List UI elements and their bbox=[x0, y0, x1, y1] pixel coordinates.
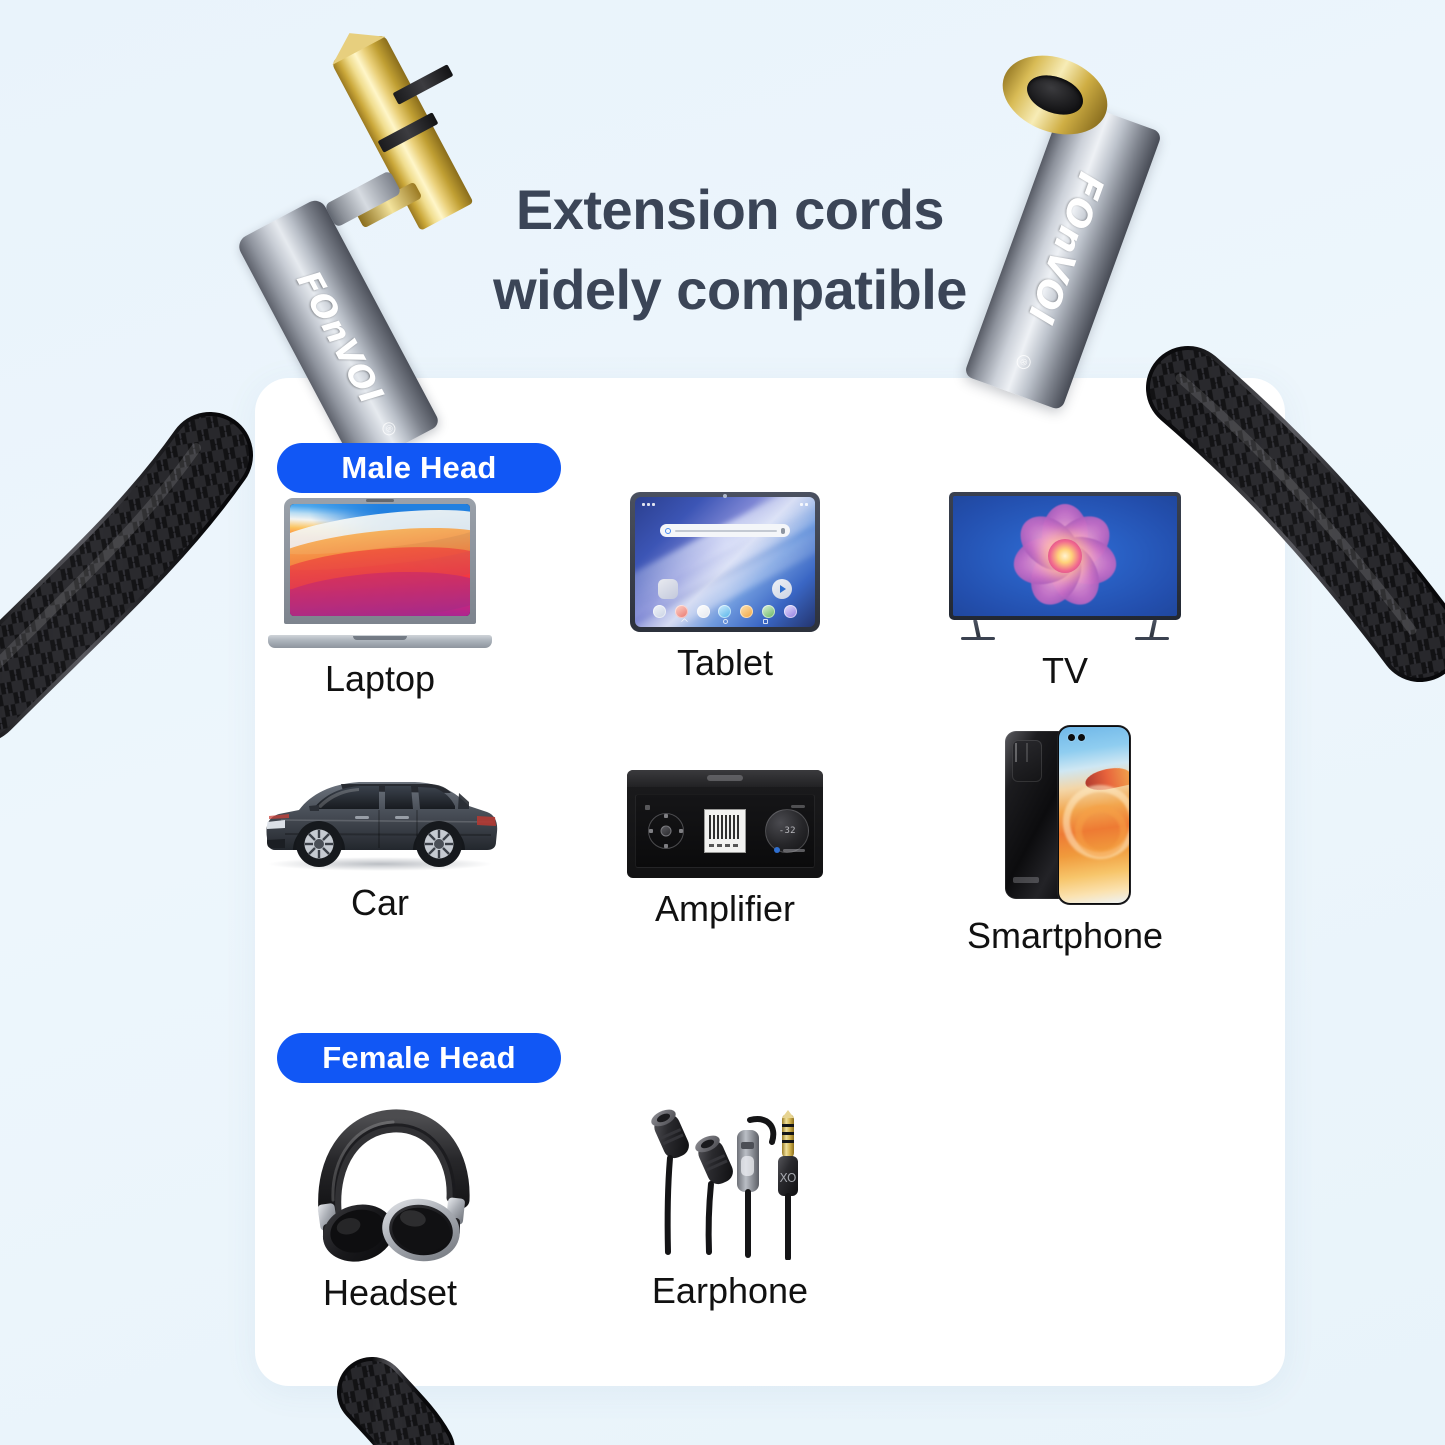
device-tile-car: Car bbox=[230, 760, 530, 924]
badge-male-head-label: Male Head bbox=[341, 450, 496, 486]
badge-female-head: Female Head bbox=[277, 1033, 561, 1083]
device-tile-smartphone: Smartphone bbox=[935, 725, 1195, 957]
tablet-app-dock bbox=[653, 605, 797, 618]
brand-logo-male: FOnVOI bbox=[289, 264, 392, 411]
microphone-icon bbox=[781, 528, 785, 534]
tv-image bbox=[935, 492, 1195, 640]
earphone-image: XO bbox=[600, 1100, 860, 1260]
bluetooth-icon bbox=[774, 847, 780, 853]
dock-app-icon bbox=[762, 605, 775, 618]
tablet-body bbox=[630, 492, 820, 632]
trademark-mark-female: ® bbox=[1015, 353, 1033, 371]
badge-male-head: Male Head bbox=[277, 443, 561, 493]
amplifier-indicator bbox=[791, 805, 805, 808]
tablet-screen bbox=[635, 497, 815, 627]
female-socket-hole bbox=[1022, 68, 1089, 122]
amplifier-display bbox=[704, 809, 746, 853]
device-label-car: Car bbox=[230, 882, 530, 924]
device-label-laptop: Laptop bbox=[230, 658, 530, 700]
device-label-smartphone: Smartphone bbox=[935, 915, 1195, 957]
headline-line-1: Extension cords bbox=[516, 178, 944, 241]
dock-app-icon bbox=[784, 605, 797, 618]
dock-app-icon bbox=[740, 605, 753, 618]
tablet-search-widget bbox=[660, 524, 790, 537]
device-tile-laptop: Laptop bbox=[230, 498, 530, 700]
tv-stand-foot bbox=[1135, 637, 1169, 640]
search-icon bbox=[665, 528, 671, 534]
svg-text:XO: XO bbox=[780, 1171, 797, 1185]
recents-icon bbox=[763, 619, 768, 624]
badge-female-head-label: Female Head bbox=[322, 1040, 515, 1076]
smartphone-screen bbox=[1059, 727, 1129, 903]
left-icon bbox=[649, 829, 653, 833]
dock-app-icon bbox=[697, 605, 710, 618]
trademark-mark-male: ® bbox=[380, 420, 398, 438]
page-title: Extension cords widely compatible bbox=[380, 170, 1080, 330]
device-label-tablet: Tablet bbox=[600, 642, 850, 684]
punch-hole-cameras bbox=[1068, 734, 1085, 741]
enter-button bbox=[661, 826, 672, 837]
tv-stand-leg bbox=[973, 620, 981, 638]
device-tile-amplifier: -32 Amplifier bbox=[600, 770, 850, 930]
tv-screen bbox=[953, 496, 1177, 616]
device-tile-headset: Headset bbox=[250, 1100, 530, 1314]
tv-flower-wallpaper bbox=[1013, 504, 1117, 608]
device-tile-tv: TV bbox=[935, 492, 1195, 692]
device-label-tv: TV bbox=[935, 650, 1195, 692]
tablet-navigation-bar bbox=[682, 619, 768, 624]
infographic-canvas: FOnVOI ® FOnVOI ® Extension cords widely… bbox=[0, 0, 1445, 1445]
amplifier-front-panel: -32 bbox=[635, 794, 815, 868]
play-store-icon bbox=[772, 579, 792, 599]
dock-app-icon bbox=[675, 605, 688, 618]
amplifier-dpad bbox=[648, 813, 684, 849]
smartphone-image bbox=[935, 725, 1195, 905]
smartphone-front bbox=[1057, 725, 1131, 905]
device-label-headset: Headset bbox=[250, 1272, 530, 1314]
cable-left bbox=[0, 448, 210, 700]
amplifier-volume-value: -32 bbox=[779, 826, 796, 836]
laptop-webcam bbox=[366, 499, 394, 502]
tablet-front-camera bbox=[723, 494, 727, 498]
amplifier-indicator bbox=[645, 805, 650, 810]
headset-image bbox=[250, 1100, 530, 1262]
back-icon bbox=[681, 618, 688, 625]
tv-stand-leg bbox=[1149, 620, 1157, 638]
cable-bottom bbox=[372, 1392, 420, 1445]
laptop-image bbox=[230, 498, 530, 648]
tv-panel bbox=[949, 492, 1181, 620]
car-image bbox=[230, 760, 530, 872]
laptop-trackpad-notch bbox=[353, 636, 407, 640]
dock-app-icon bbox=[653, 605, 666, 618]
tablet-image bbox=[600, 492, 850, 632]
device-label-amplifier: Amplifier bbox=[600, 888, 850, 930]
camera-module-icon bbox=[1012, 740, 1042, 782]
smartphone-brand-logo bbox=[1013, 877, 1039, 883]
device-label-earphone: Earphone bbox=[600, 1270, 860, 1312]
dock-app-icon bbox=[718, 605, 731, 618]
tv-stand-foot bbox=[961, 637, 995, 640]
amplifier-top-panel bbox=[627, 770, 823, 787]
down-icon bbox=[664, 844, 668, 848]
amplifier-image: -32 bbox=[600, 770, 850, 878]
amplifier-brand-plate bbox=[707, 775, 743, 781]
tablet-app-icon bbox=[658, 579, 678, 599]
up-icon bbox=[664, 814, 668, 818]
laptop-screen bbox=[290, 504, 470, 616]
headline-line-2: widely compatible bbox=[380, 250, 1080, 330]
tablet-statusbar bbox=[642, 501, 808, 507]
home-icon bbox=[723, 619, 728, 624]
laptop-lid bbox=[284, 498, 476, 624]
bluetooth-badge bbox=[774, 847, 805, 853]
right-icon bbox=[679, 829, 683, 833]
device-tile-earphone: XO Earphone bbox=[600, 1100, 860, 1312]
device-tile-tablet: Tablet bbox=[600, 492, 850, 684]
